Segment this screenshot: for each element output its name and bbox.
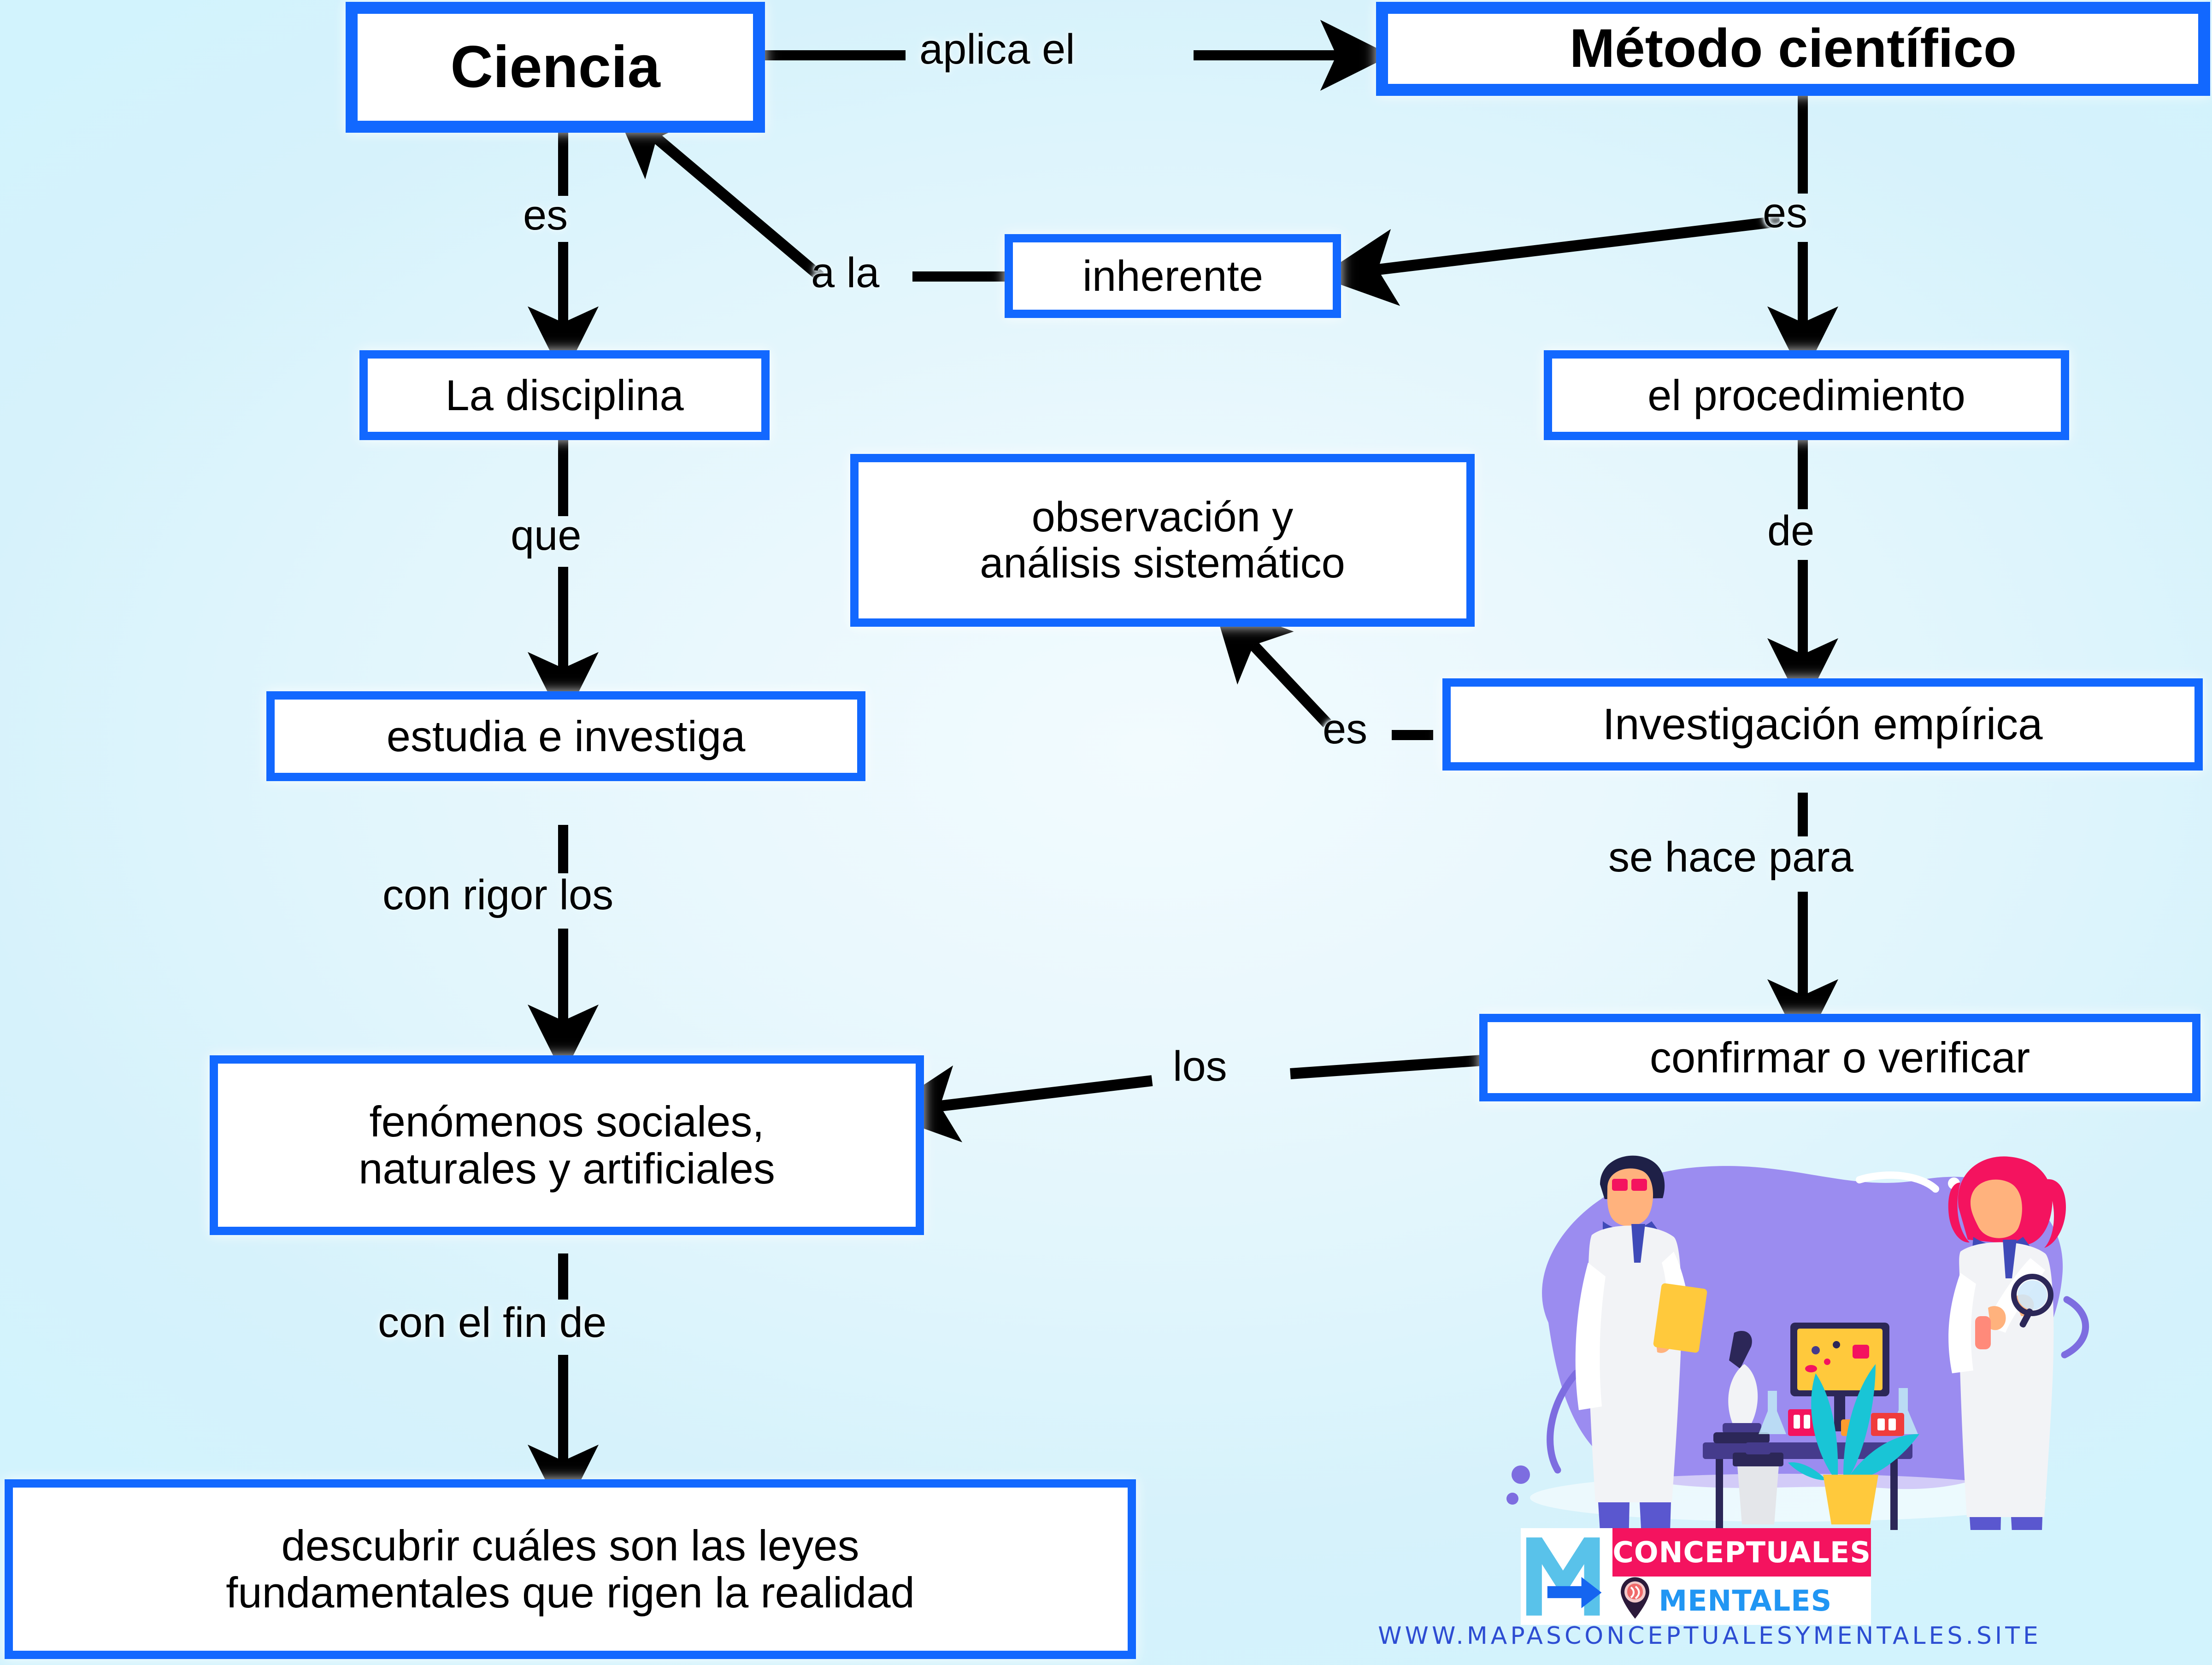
- node-el-procedimiento-label: el procedimiento: [1639, 372, 1974, 419]
- node-fenomenos[interactable]: fenómenos sociales, naturales y artifici…: [210, 1055, 924, 1235]
- node-descubrir-leyes-label: descubrir cuáles son las leyes fundament…: [218, 1522, 923, 1616]
- brand-logo[interactable]: CONCEPTUALES MENTALES: [1521, 1528, 1871, 1625]
- logo-conceptuales-text: CONCEPTUALES: [1612, 1528, 1871, 1577]
- edge-label-se-hace-para: se hace para: [1608, 833, 1853, 882]
- diagram-canvas: Ciencia Método científico inherente La d…: [0, 0, 2212, 1665]
- node-metodo-cientifico-label: Método científico: [1561, 19, 2025, 78]
- node-observacion-analisis-label: observación y análisis sistemático: [971, 494, 1353, 586]
- node-confirmar-verificar[interactable]: confirmar o verificar: [1479, 1014, 2200, 1101]
- site-watermark: WWW.MAPASCONCEPTUALESYMENTALES.SITE: [1327, 1622, 2092, 1650]
- logo-mentales-text: MENTALES: [1612, 1577, 1871, 1625]
- edge-label-con-rigor-los: con rigor los: [382, 871, 613, 919]
- node-metodo-cientifico[interactable]: Método científico: [1376, 2, 2210, 96]
- edge-label-de: de: [1767, 507, 1814, 555]
- node-ciencia[interactable]: Ciencia: [346, 2, 765, 133]
- logo-m-icon: [1521, 1528, 1612, 1625]
- node-el-procedimiento[interactable]: el procedimiento: [1544, 350, 2069, 440]
- edge-label-es-ciencia-disciplina: es: [523, 191, 568, 240]
- edge-label-que: que: [511, 512, 582, 560]
- edge-label-los: los: [1173, 1042, 1227, 1091]
- node-la-disciplina-label: La disciplina: [437, 372, 692, 419]
- node-la-disciplina[interactable]: La disciplina: [359, 350, 770, 440]
- edge-label-a-la: a la: [811, 249, 879, 297]
- node-descubrir-leyes[interactable]: descubrir cuáles son las leyes fundament…: [5, 1479, 1136, 1659]
- node-investigacion-empirica[interactable]: Investigación empírica: [1442, 678, 2203, 771]
- scientist-female: [1948, 1156, 2066, 1530]
- node-investigacion-empirica-label: Investigación empírica: [1594, 700, 2051, 748]
- node-fenomenos-label: fenómenos sociales, naturales y artifici…: [350, 1098, 783, 1192]
- edge-label-con-el-fin-de: con el fin de: [378, 1299, 606, 1347]
- node-inherente[interactable]: inherente: [1005, 234, 1341, 318]
- node-confirmar-verificar-label: confirmar o verificar: [1641, 1034, 2038, 1081]
- node-estudia-investiga[interactable]: estudia e investiga: [266, 691, 865, 781]
- edge-label-es-investigacion-observacion: es: [1323, 705, 1367, 753]
- node-ciencia-label: Ciencia: [442, 35, 668, 99]
- laboratory-illustration: [1493, 1124, 2092, 1530]
- node-inherente-label: inherente: [1074, 253, 1271, 300]
- brain-pin-icon: [1617, 1576, 1653, 1625]
- logo-mentales-label: MENTALES: [1659, 1584, 1832, 1618]
- edge-label-aplica-el: aplica el: [919, 25, 1075, 74]
- node-observacion-analisis[interactable]: observación y análisis sistemático: [850, 454, 1475, 627]
- connector-metodo-inherente: [1378, 221, 1780, 270]
- node-estudia-investiga-label: estudia e investiga: [378, 713, 754, 760]
